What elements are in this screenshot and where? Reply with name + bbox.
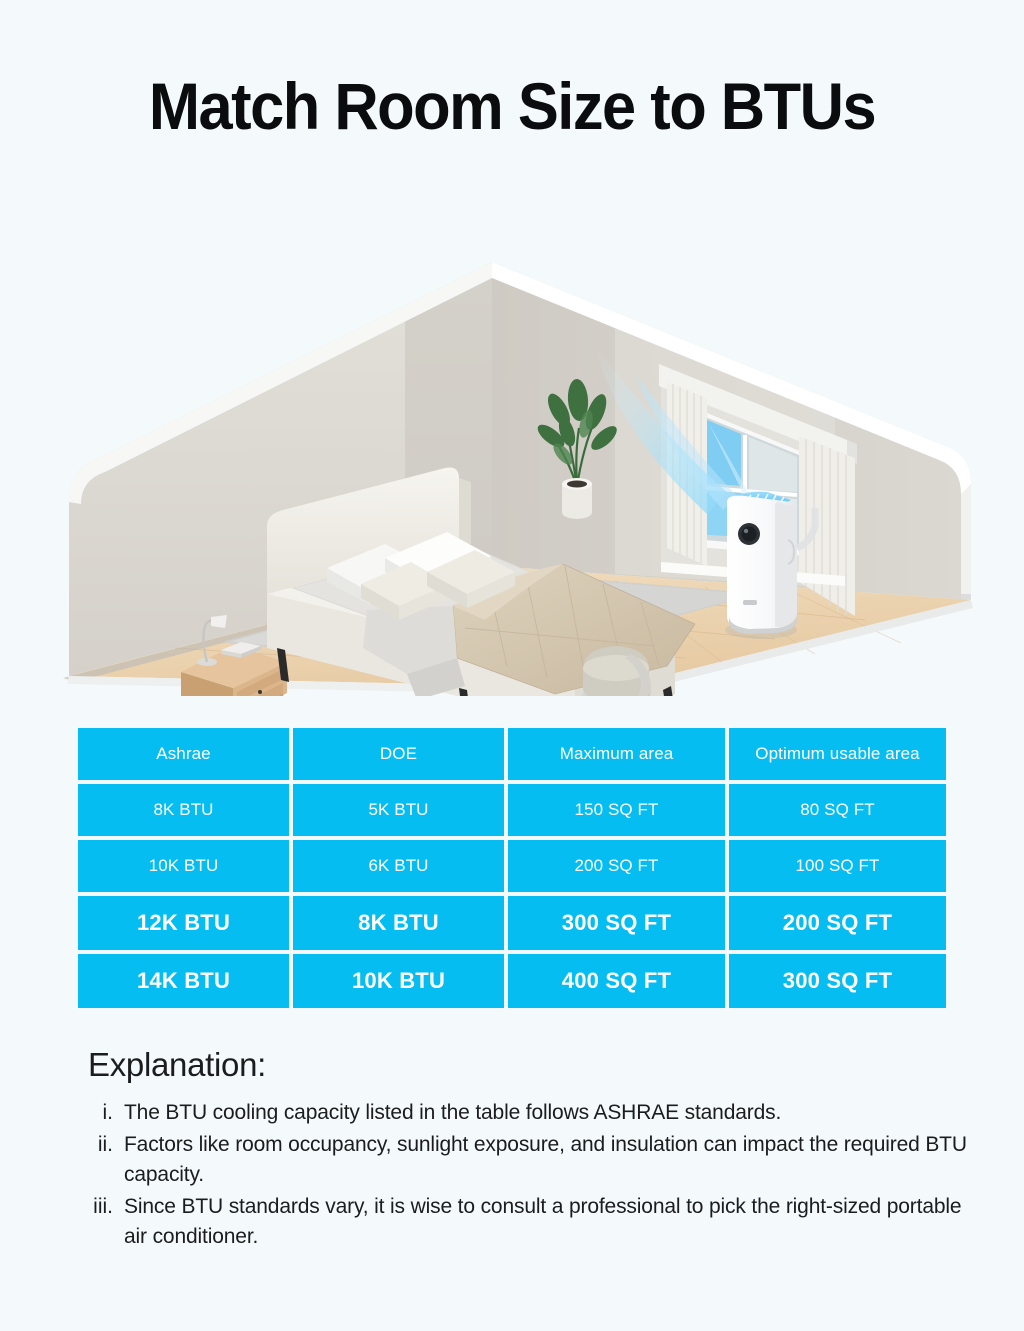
bedroom-illustration (55, 196, 985, 696)
table-cell: 5K BTU (293, 784, 504, 836)
list-item: ii. Factors like room occupancy, sunligh… (88, 1130, 968, 1190)
table-cell: 80 SQ FT (729, 784, 946, 836)
table-cell: 10K BTU (293, 954, 504, 1008)
table-cell: 300 SQ FT (508, 896, 725, 950)
btu-table: Ashrae DOE Maximum area Optimum usable a… (78, 728, 946, 1008)
table-cell: 300 SQ FT (729, 954, 946, 1008)
table-cell: 6K BTU (293, 840, 504, 892)
list-item: i. The BTU cooling capacity listed in th… (88, 1098, 968, 1128)
list-text: Since BTU standards vary, it is wise to … (124, 1192, 968, 1252)
list-text: Factors like room occupancy, sunlight ex… (124, 1130, 968, 1190)
table-header-cell: DOE (293, 728, 504, 780)
table-header-row: Ashrae DOE Maximum area Optimum usable a… (78, 728, 946, 780)
table-row: 14K BTU 10K BTU 400 SQ FT 300 SQ FT (78, 954, 946, 1008)
explanation-list: i. The BTU cooling capacity listed in th… (88, 1098, 968, 1252)
list-text: The BTU cooling capacity listed in the t… (124, 1098, 781, 1128)
explanation-section: Explanation: i. The BTU cooling capacity… (88, 1046, 968, 1254)
table-cell: 100 SQ FT (729, 840, 946, 892)
list-numeral: ii. (88, 1130, 124, 1160)
list-numeral: i. (88, 1098, 124, 1128)
table-header-cell: Optimum usable area (729, 728, 946, 780)
explanation-heading: Explanation: (88, 1046, 968, 1084)
table-cell: 8K BTU (78, 784, 289, 836)
table-cell: 12K BTU (78, 896, 289, 950)
table-row: 10K BTU 6K BTU 200 SQ FT 100 SQ FT (78, 840, 946, 892)
table-cell: 200 SQ FT (729, 896, 946, 950)
pouf-ottoman (582, 646, 651, 696)
table-header-cell: Maximum area (508, 728, 725, 780)
table-row: 8K BTU 5K BTU 150 SQ FT 80 SQ FT (78, 784, 946, 836)
table-row: 12K BTU 8K BTU 300 SQ FT 200 SQ FT (78, 896, 946, 950)
table-header-cell: Ashrae (78, 728, 289, 780)
table-cell: 200 SQ FT (508, 840, 725, 892)
table-cell: 150 SQ FT (508, 784, 725, 836)
table-cell: 14K BTU (78, 954, 289, 1008)
table-cell: 400 SQ FT (508, 954, 725, 1008)
list-numeral: iii. (88, 1192, 124, 1222)
list-item: iii. Since BTU standards vary, it is wis… (88, 1192, 968, 1252)
table-cell: 8K BTU (293, 896, 504, 950)
page-title: Match Room Size to BTUs (36, 68, 988, 144)
table-cell: 10K BTU (78, 840, 289, 892)
